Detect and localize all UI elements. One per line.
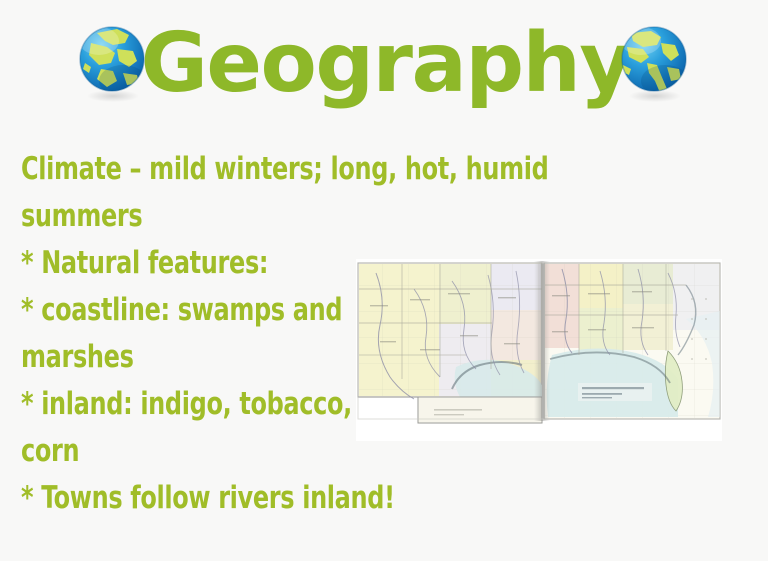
slide-title-row: Geography: [0, 14, 768, 114]
slide-root: Geography: [0, 0, 768, 561]
body-line: summers: [21, 193, 451, 240]
globe-americas-icon: [617, 23, 691, 105]
body-line: Climate – mild winters; long, hot, humid: [21, 146, 451, 193]
antique-map-image: [356, 259, 722, 441]
page-title: Geography: [141, 23, 632, 105]
map-clip: [356, 259, 722, 441]
body-line: * Towns follow rivers inland!: [21, 475, 451, 522]
map-panel-right: [544, 263, 720, 419]
globe-asia-icon: [77, 23, 151, 105]
